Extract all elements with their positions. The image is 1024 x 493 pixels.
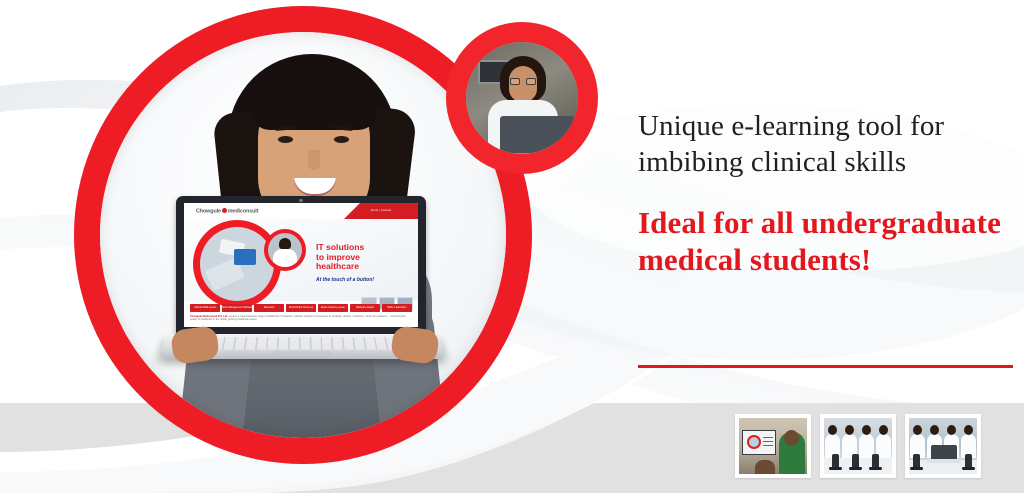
thumb3-microscope-2 bbox=[965, 454, 972, 470]
mini-nav-item-3[interactable]: Rural Health Check-up bbox=[286, 304, 316, 312]
logo-dot-icon bbox=[222, 208, 228, 214]
secondary-photo-circle bbox=[466, 42, 578, 154]
thumbnail-strip bbox=[735, 414, 981, 478]
eye-left bbox=[278, 136, 293, 143]
thumb2-microscope-2 bbox=[852, 454, 859, 470]
thumb3-laptop-screen bbox=[931, 445, 957, 460]
banner-copy: Unique e-learning tool for imbibing clin… bbox=[638, 108, 1018, 278]
webcam-icon bbox=[299, 199, 302, 202]
banner-subheadline: Ideal for all undergraduate medical stud… bbox=[638, 204, 1018, 278]
laptop-screen: About | Contact Chowgulemediconsult bbox=[184, 203, 418, 327]
laptop-lid: About | Contact Chowgulemediconsult bbox=[176, 196, 426, 336]
mini-logo-suffix: mediconsult bbox=[228, 208, 259, 214]
mini-hero-headline: IT solutions to improve healthcare bbox=[316, 243, 364, 272]
mini-hero-tagline: At the touch of a button! bbox=[316, 277, 374, 283]
mini-site-logo[interactable]: Chowgulemediconsult bbox=[196, 208, 258, 215]
mini-hero-circle-doctor bbox=[268, 233, 302, 267]
thumb1-text-line-3 bbox=[763, 445, 773, 446]
red-divider-rule bbox=[638, 365, 1013, 368]
mini-site-nav: Clinical Skills eLearn Clinic Management… bbox=[190, 304, 412, 312]
thumb1-foreground-hand bbox=[755, 460, 775, 474]
thumb3-laptop-base bbox=[927, 459, 961, 463]
thumbnail-group-laptop[interactable] bbox=[905, 414, 981, 478]
mini-website: About | Contact Chowgulemediconsult bbox=[184, 203, 418, 327]
eye-right bbox=[334, 136, 349, 143]
mini-site-topbar: About | Contact Chowgulemediconsult bbox=[184, 203, 418, 219]
promo-banner: About | Contact Chowgulemediconsult bbox=[0, 0, 1024, 493]
mini-nav-item-5[interactable]: Hardware Repair bbox=[350, 304, 380, 312]
nose-shape bbox=[308, 150, 320, 170]
mini-logo-prefix: Chowgule bbox=[196, 208, 221, 214]
thumbnail-lecture-demo[interactable] bbox=[735, 414, 811, 478]
thumb1-instructor-head bbox=[784, 430, 799, 446]
thumb1-text-line-2 bbox=[763, 441, 773, 442]
secondary-laptop-shape bbox=[500, 116, 574, 154]
mini-nav-item-0[interactable]: Clinical Skills eLearn bbox=[190, 304, 220, 312]
thumb2-microscope-3 bbox=[872, 454, 879, 470]
mini-utility-tab[interactable]: About | Contact bbox=[344, 203, 418, 219]
thumb2-microscope-1 bbox=[832, 454, 839, 470]
mini-headline-line-3: healthcare bbox=[316, 262, 364, 272]
mini-site-hero: IT solutions to improve healthcare At th… bbox=[184, 219, 418, 301]
mini-nav-item-2[interactable]: Education bbox=[254, 304, 284, 312]
thumb1-text-line-1 bbox=[763, 437, 773, 438]
trackpad-shape bbox=[273, 351, 332, 355]
hero-photo-circle: About | Contact Chowgulemediconsult bbox=[100, 32, 506, 438]
thumbnail-microscope-lab[interactable] bbox=[820, 414, 896, 478]
page-title: Unique e-learning tool for imbibing clin… bbox=[638, 108, 1018, 180]
mini-nav-item-4[interactable]: Exam Anatomy eLearn bbox=[318, 304, 348, 312]
mini-nav-item-6[interactable]: Skills in Education bbox=[382, 304, 412, 312]
mini-utility-tab-label: About | Contact bbox=[344, 203, 418, 219]
mini-hero-circle-devices bbox=[200, 227, 274, 301]
eyeglasses-icon bbox=[510, 78, 536, 85]
thumb1-highlight-circle bbox=[747, 435, 761, 449]
student-portrait: About | Contact Chowgulemediconsult bbox=[100, 32, 506, 438]
mini-nav-item-1[interactable]: Clinic Management Software bbox=[222, 304, 252, 312]
fringe-shape bbox=[250, 72, 378, 130]
thumb3-microscope-1 bbox=[913, 454, 920, 470]
mini-site-body-copy: Chowgule Mediconsult Pvt. Ltd. renders a… bbox=[190, 315, 412, 322]
